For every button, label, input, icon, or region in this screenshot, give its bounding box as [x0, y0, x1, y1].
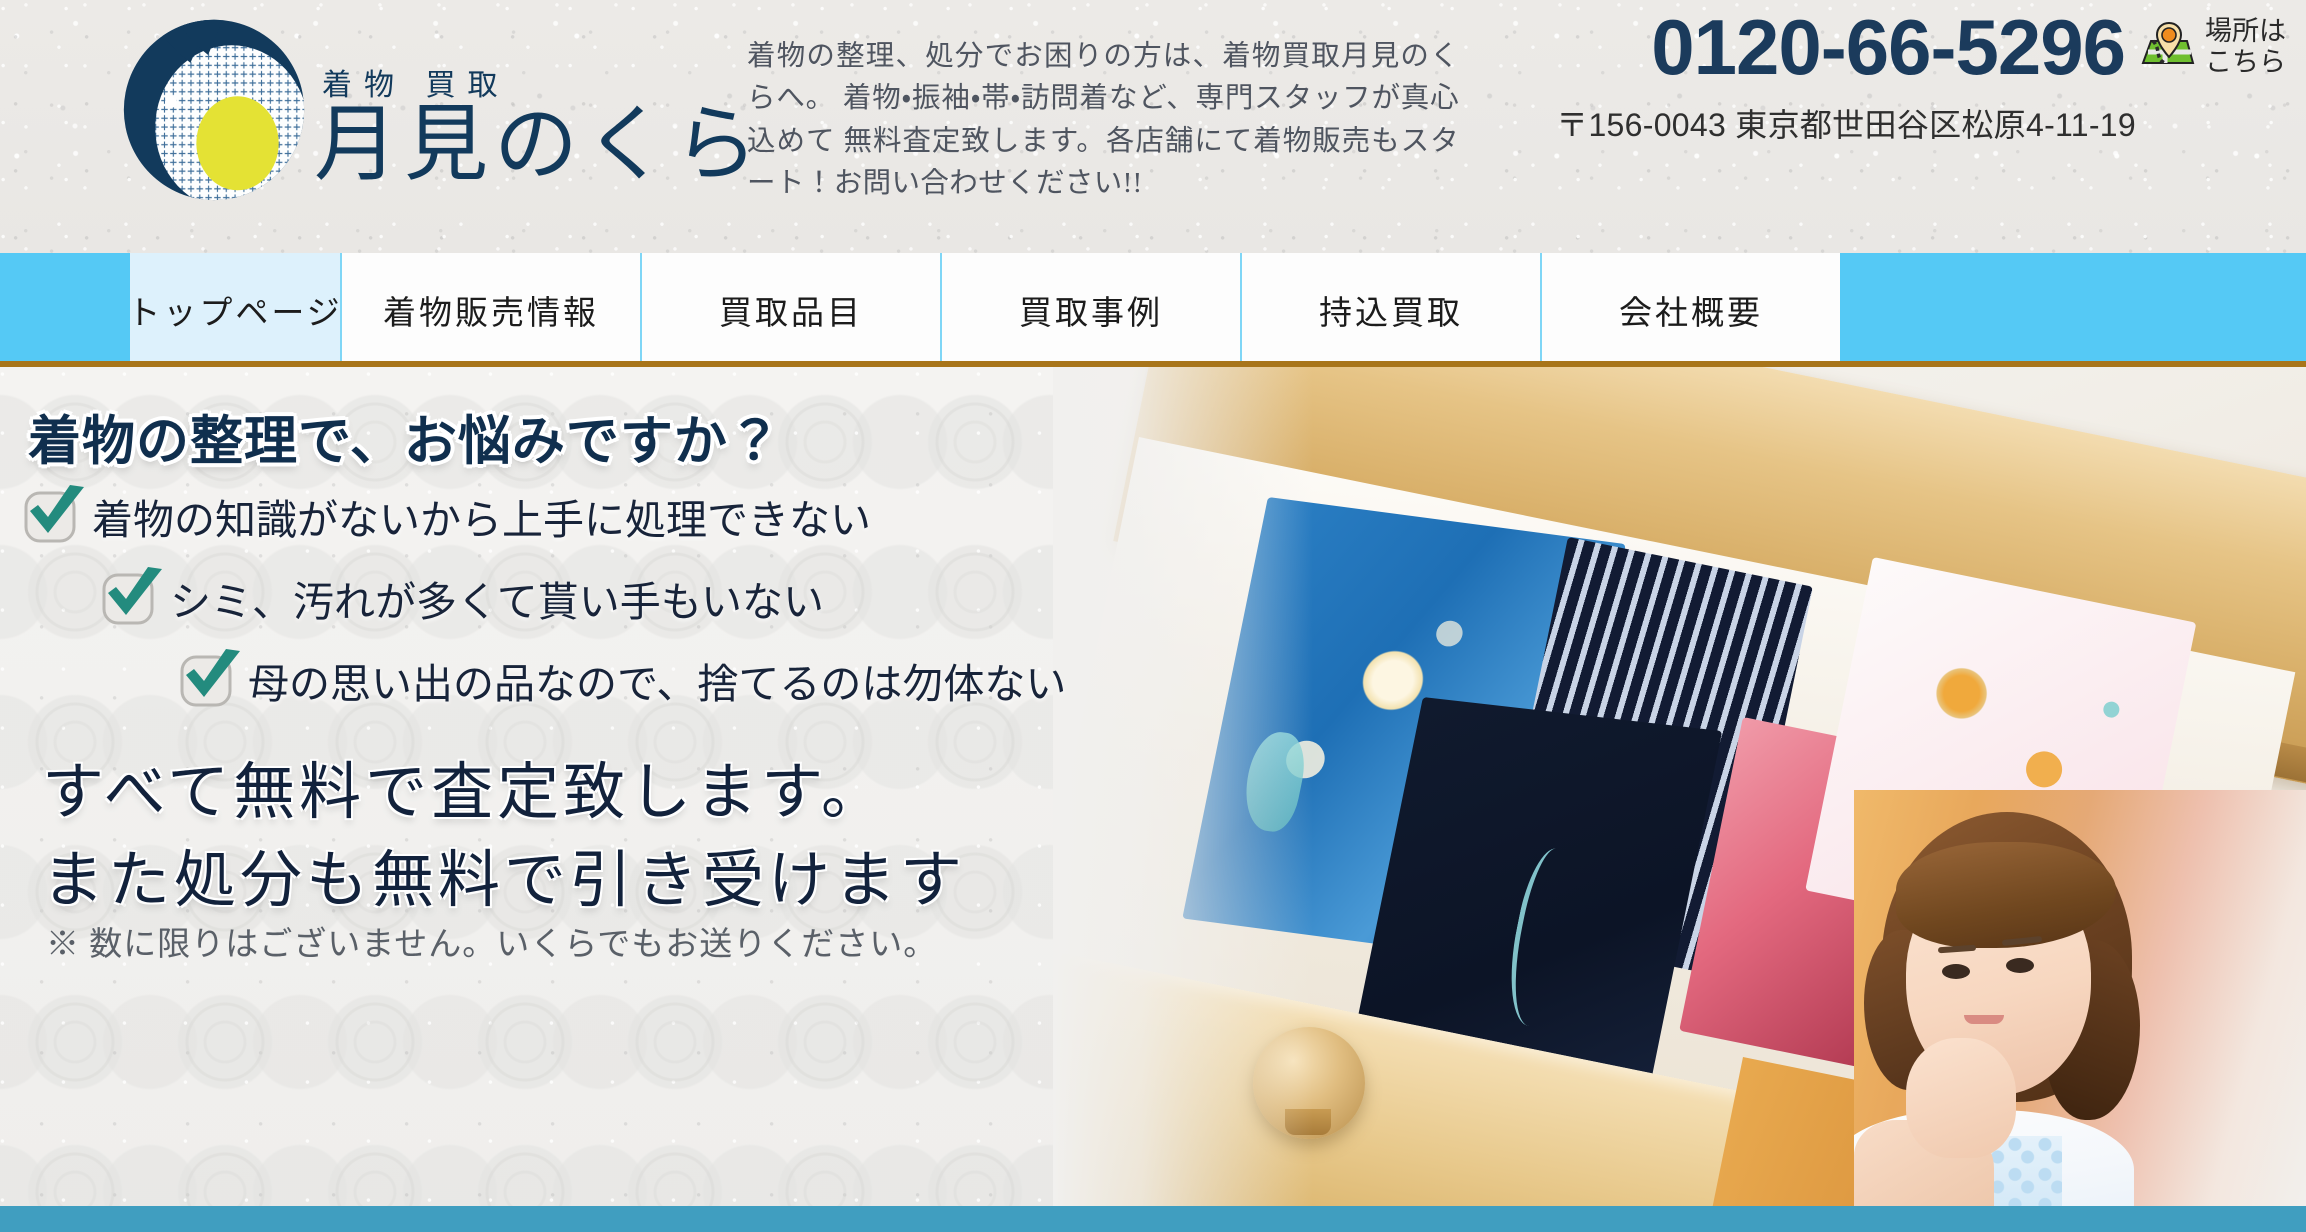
main-navigation: トップページ 着物販売情報 買取品目 買取事例 持込買取 会社概要 — [0, 253, 2306, 367]
nav-item-label: 買取品目 — [719, 286, 863, 334]
nav-item-purchase-examples[interactable]: 買取事例 — [940, 253, 1240, 367]
nav-items: トップページ 着物販売情報 買取品目 買取事例 持込買取 会社概要 — [130, 253, 1840, 367]
logo-kicker: 着物 買取 — [322, 60, 764, 104]
thinking-woman-photo — [1854, 790, 2306, 1232]
nav-item-label: 持込買取 — [1319, 286, 1463, 334]
nav-item-label: トップページ — [127, 286, 342, 334]
nav-item-label: 買取事例 — [1019, 286, 1163, 334]
check-icon — [174, 649, 248, 711]
site-header: 着物 買取 月見のくら 着物の整理、処分でお困りの方は、着物買取月見のくらへ。 … — [0, 0, 2306, 253]
logo-name: 月見のくら — [314, 106, 764, 186]
page-root: 着物 買取 月見のくら 着物の整理、処分でお困りの方は、着物買取月見のくらへ。 … — [0, 0, 2306, 1232]
location-label-line2: こちら — [2205, 47, 2286, 78]
footer-accent-bar — [0, 1206, 2306, 1232]
location-label-line1: 場所は — [2205, 16, 2286, 47]
nav-item-label: 着物販売情報 — [383, 286, 599, 334]
nav-item-company-profile[interactable]: 会社概要 — [1540, 253, 1840, 367]
check-icon — [96, 567, 170, 629]
hero-section: 着物の整理で、お悩みですか？ 着物の知識がないから上手に処理できない — [0, 367, 2306, 1232]
header-lede: 着物の整理、処分でお困りの方は、着物買取月見のくらへ。 着物・振袖・帯・訪問着な… — [747, 36, 1459, 206]
location-link[interactable]: 場所は こちら — [2139, 16, 2286, 78]
hero-copy: 着物の整理で、お悩みですか？ 着物の知識がないから上手に処理できない — [0, 367, 1100, 1232]
list-item: シミ、汚れが多くて貰い手もいない — [96, 567, 1078, 629]
pain-point-list: 着物の知識がないから上手に処理できない シミ、汚れが多くて貰い手もいない — [18, 485, 1078, 731]
address: 〒156-0043 東京都世田谷区松原4-11-19 — [1476, 100, 2136, 146]
promise-block: すべて無料で査定致します。 また処分も無料で引き受けます — [42, 749, 966, 925]
check-icon — [18, 485, 92, 547]
logo-text-block: 着物 買取 月見のくら — [314, 60, 764, 204]
nav-left-spacer — [0, 253, 130, 367]
promise-note: ※ 数に限りはございません。いくらでもお送りください。 — [46, 917, 937, 965]
list-item-label: 母の思い出の品なので、捨てるのは勿体ない — [248, 650, 1066, 710]
nav-item-bring-in-purchase[interactable]: 持込買取 — [1240, 253, 1540, 367]
header-contact: 0120-66-5296 場所は こ — [1476, 8, 2286, 146]
hero-headline: 着物の整理で、お悩みですか？ — [28, 399, 782, 475]
promise-line-2: また処分も無料で引き受けます — [42, 837, 966, 925]
phone-row: 0120-66-5296 場所は こ — [1476, 8, 2286, 86]
nav-item-purchase-items[interactable]: 買取品目 — [640, 253, 940, 367]
list-item: 母の思い出の品なので、捨てるのは勿体ない — [174, 649, 1078, 711]
phone-number[interactable]: 0120-66-5296 — [1651, 8, 2125, 86]
nav-item-kimono-sales-info[interactable]: 着物販売情報 — [340, 253, 640, 367]
rabbit-moon-logo-icon — [116, 8, 312, 204]
nav-item-label: 会社概要 — [1619, 286, 1763, 334]
list-item-label: 着物の知識がないから上手に処理できない — [92, 486, 871, 546]
list-item: 着物の知識がないから上手に処理できない — [18, 485, 1078, 547]
site-logo[interactable]: 着物 買取 月見のくら — [116, 8, 764, 204]
nav-item-top-page[interactable]: トップページ — [130, 253, 340, 367]
list-item-label: シミ、汚れが多くて貰い手もいない — [170, 568, 824, 628]
location-label: 場所は こちら — [2205, 16, 2286, 78]
map-pin-icon — [2139, 19, 2195, 75]
promise-line-1: すべて無料で査定致します。 — [42, 749, 966, 837]
